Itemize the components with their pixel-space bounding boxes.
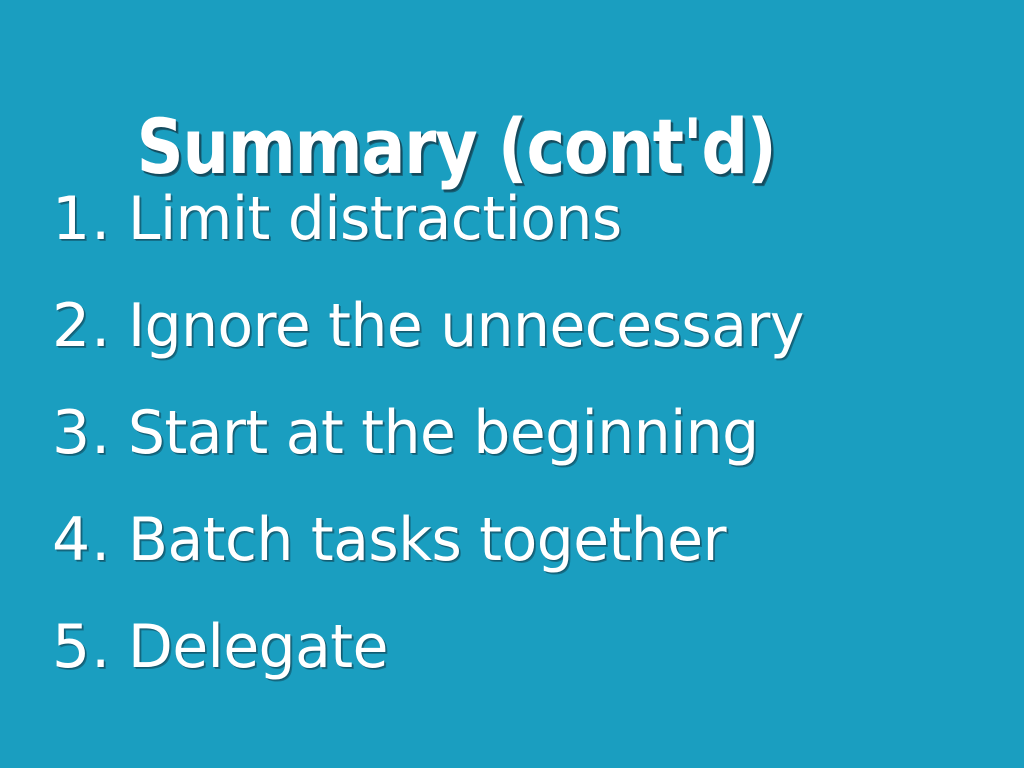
list-item-number: 2. [52,273,128,380]
list-item-label: Limit distractions [128,166,622,273]
list-item-label: Start at the beginning [128,380,759,487]
list-item-label: Delegate [128,594,388,701]
list-item: 1. Limit distractions [52,166,992,273]
list-item: 3. Start at the beginning [52,380,992,487]
list-item-label: Batch tasks together [128,487,726,594]
list-item-number: 5. [52,594,128,701]
list-item: 2. Ignore the unnecessary [52,273,992,380]
presentation-slide: Summary (cont'd) 1. Limit distractions 2… [0,0,1024,768]
summary-list: 1. Limit distractions 2. Ignore the unne… [52,166,992,701]
list-item-number: 4. [52,487,128,594]
list-item-number: 1. [52,166,128,273]
list-item-label: Ignore the unnecessary [128,273,804,380]
list-item: 5. Delegate [52,594,992,701]
list-item-number: 3. [52,380,128,487]
list-item: 4. Batch tasks together [52,487,992,594]
